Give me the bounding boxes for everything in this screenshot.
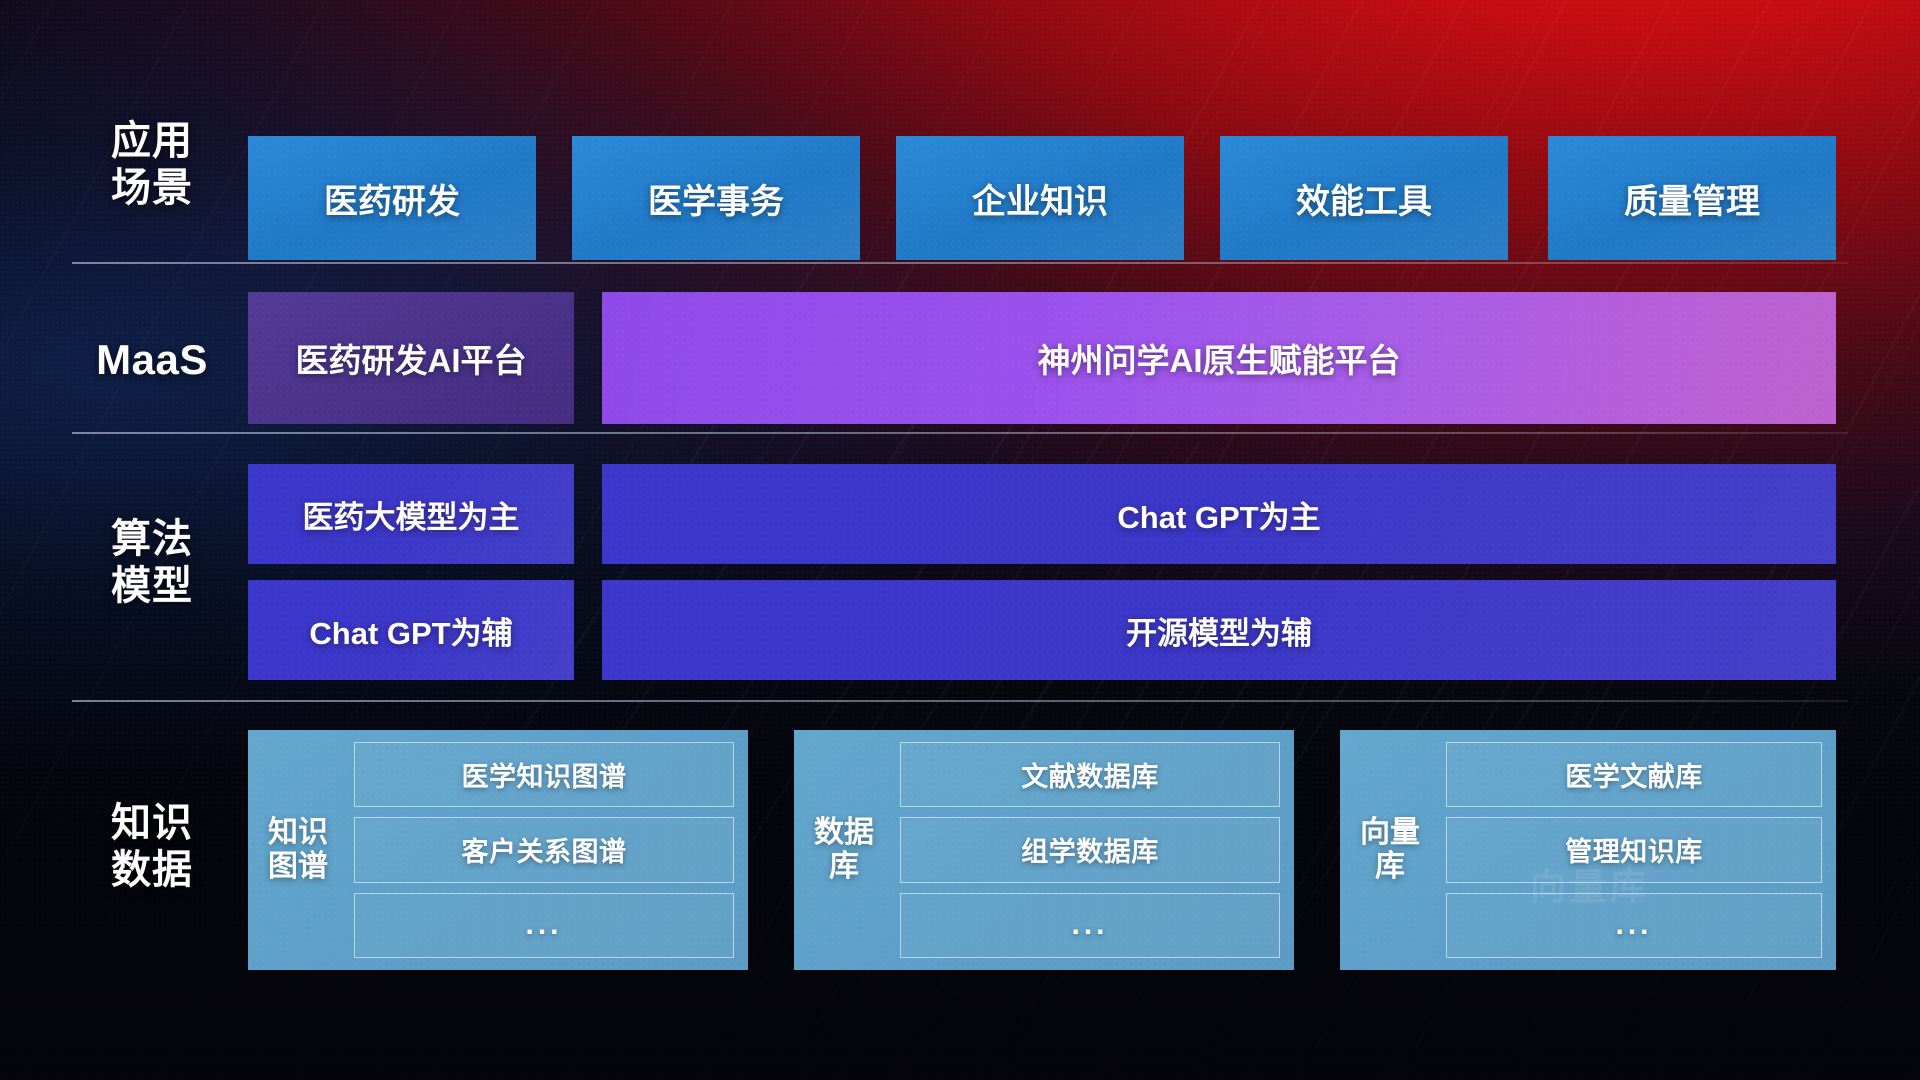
app-box-medical-rd[interactable]: 医药研发	[248, 136, 536, 260]
knowledge-item[interactable]: 管理知识库	[1446, 817, 1822, 882]
app-box-label: 质量管理	[1624, 174, 1760, 223]
knowledge-panel-database[interactable]: 数据库 文献数据库 组学数据库 ...	[794, 730, 1294, 970]
algo-box-label: 医药大模型为主	[303, 492, 520, 537]
knowledge-panel-title: 知识图谱	[260, 742, 336, 958]
algo-box-chatgpt-primary[interactable]: Chat GPT为主	[602, 464, 1836, 564]
app-box-quality-management[interactable]: 质量管理	[1548, 136, 1836, 260]
algo-box-chatgpt-secondary[interactable]: Chat GPT为辅	[248, 580, 574, 680]
knowledge-panel-items: 医学文献库 管理知识库 ...	[1446, 742, 1822, 958]
maas-box-label: 神州问学AI原生赋能平台	[1038, 334, 1401, 382]
row-label-application-scenarios: 应用 场景	[72, 118, 232, 212]
app-box-label: 效能工具	[1296, 174, 1432, 223]
knowledge-panel-items: 文献数据库 组学数据库 ...	[900, 742, 1280, 958]
algo-box-pharma-large-model-primary[interactable]: 医药大模型为主	[248, 464, 574, 564]
knowledge-item-more[interactable]: ...	[354, 893, 734, 958]
maas-box-shenzhou-wenxue-platform[interactable]: 神州问学AI原生赋能平台	[602, 292, 1836, 424]
algo-box-label: 开源模型为辅	[1126, 608, 1312, 653]
knowledge-item[interactable]: 医学文献库	[1446, 742, 1822, 807]
divider-2	[72, 432, 1848, 434]
row-label-algorithm-models: 算法 模型	[72, 516, 232, 610]
knowledge-item-more[interactable]: ...	[1446, 893, 1822, 958]
app-box-label: 企业知识	[972, 174, 1108, 223]
app-box-efficiency-tools[interactable]: 效能工具	[1220, 136, 1508, 260]
knowledge-item[interactable]: 医学知识图谱	[354, 742, 734, 807]
row-label-maas: MaaS	[72, 335, 232, 385]
divider-1	[72, 262, 1848, 264]
divider-3	[72, 700, 1848, 702]
algo-box-opensource-model-secondary[interactable]: 开源模型为辅	[602, 580, 1836, 680]
knowledge-item[interactable]: 文献数据库	[900, 742, 1280, 807]
app-box-label: 医药研发	[324, 174, 460, 223]
app-box-medical-affairs[interactable]: 医学事务	[572, 136, 860, 260]
maas-box-medical-rd-ai-platform[interactable]: 医药研发AI平台	[248, 292, 574, 424]
knowledge-item[interactable]: 客户关系图谱	[354, 817, 734, 882]
app-box-label: 医学事务	[648, 174, 784, 223]
knowledge-panel-items: 医学知识图谱 客户关系图谱 ...	[354, 742, 734, 958]
knowledge-panel-knowledge-graph[interactable]: 知识图谱 医学知识图谱 客户关系图谱 ...	[248, 730, 748, 970]
algo-box-label: Chat GPT为辅	[309, 608, 512, 653]
knowledge-panel-title: 数据库	[806, 742, 882, 958]
slide-canvas: 应用 场景 医药研发 医学事务 企业知识 效能工具 质量管理 MaaS 医药研发…	[0, 0, 1920, 1080]
knowledge-item-more[interactable]: ...	[900, 893, 1280, 958]
knowledge-panel-title: 向量库	[1352, 742, 1428, 958]
app-box-enterprise-knowledge[interactable]: 企业知识	[896, 136, 1184, 260]
diagram-content: 应用 场景 医药研发 医学事务 企业知识 效能工具 质量管理 MaaS 医药研发…	[0, 0, 1920, 1080]
row-label-knowledge-data: 知识 数据	[72, 800, 232, 894]
knowledge-item[interactable]: 组学数据库	[900, 817, 1280, 882]
algo-box-label: Chat GPT为主	[1117, 492, 1320, 537]
knowledge-panel-vector-store[interactable]: 向量库 向量库 医学文献库 管理知识库 ...	[1340, 730, 1836, 970]
maas-box-label: 医药研发AI平台	[296, 334, 527, 382]
